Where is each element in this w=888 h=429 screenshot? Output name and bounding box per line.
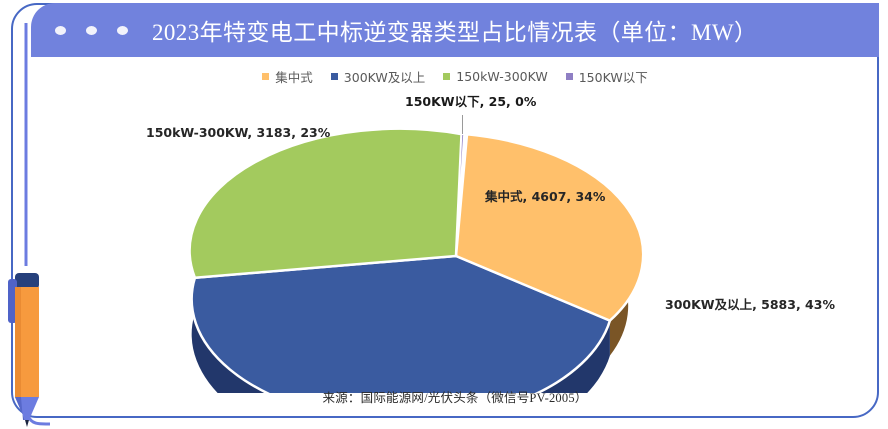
legend-item-0[interactable]: 集中式 [262,67,313,86]
window-dot-icon-3 [117,26,128,35]
legend-label-2: 150kW-300KW [456,69,547,84]
data-label-300kw-above: 300KW及以上, 5883, 43% [665,294,835,313]
card-header: 2023年特变电工中标逆变器类型占比情况表（单位：MW） [31,3,879,57]
legend-item-3[interactable]: 150KW以下 [566,67,648,86]
legend-swatch-icon-1 [331,73,338,80]
chart-legend: 集中式 300KW及以上 150kW-300KW 150KW以下 [33,67,877,86]
window-dot-icon-1 [55,26,66,35]
pie-slice-150kw-300kw[interactable] [190,129,462,278]
chart-card: 2023年特变电工中标逆变器类型占比情况表（单位：MW） 集中式 300KW及以… [0,0,888,429]
legend-label-0: 集中式 [275,67,313,86]
pie-chart: 150KW以下, 25, 0% 150kW-300KW, 3183, 23% 集… [33,93,877,393]
legend-swatch-icon-2 [443,73,450,80]
legend-item-2[interactable]: 150kW-300KW [443,69,547,84]
legend-swatch-icon-0 [262,73,269,80]
data-label-concentrated: 集中式, 4607, 34% [485,186,605,205]
chart-body: 集中式 300KW及以上 150kW-300KW 150KW以下 [33,57,877,416]
legend-item-1[interactable]: 300KW及以上 [331,67,425,86]
legend-label-1: 300KW及以上 [344,67,425,86]
source-note: 来源：国际能源网/光伏头条（微信号PV-2005） [33,387,877,406]
legend-label-3: 150KW以下 [579,67,648,86]
data-label-150kw-300kw: 150kW-300KW, 3183, 23% [146,125,330,140]
window-dot-icon-2 [86,26,97,35]
data-label-150kw-below: 150KW以下, 25, 0% [405,91,536,110]
page-title: 2023年特变电工中标逆变器类型占比情况表（单位：MW） [152,13,757,47]
legend-swatch-icon-3 [566,73,573,80]
